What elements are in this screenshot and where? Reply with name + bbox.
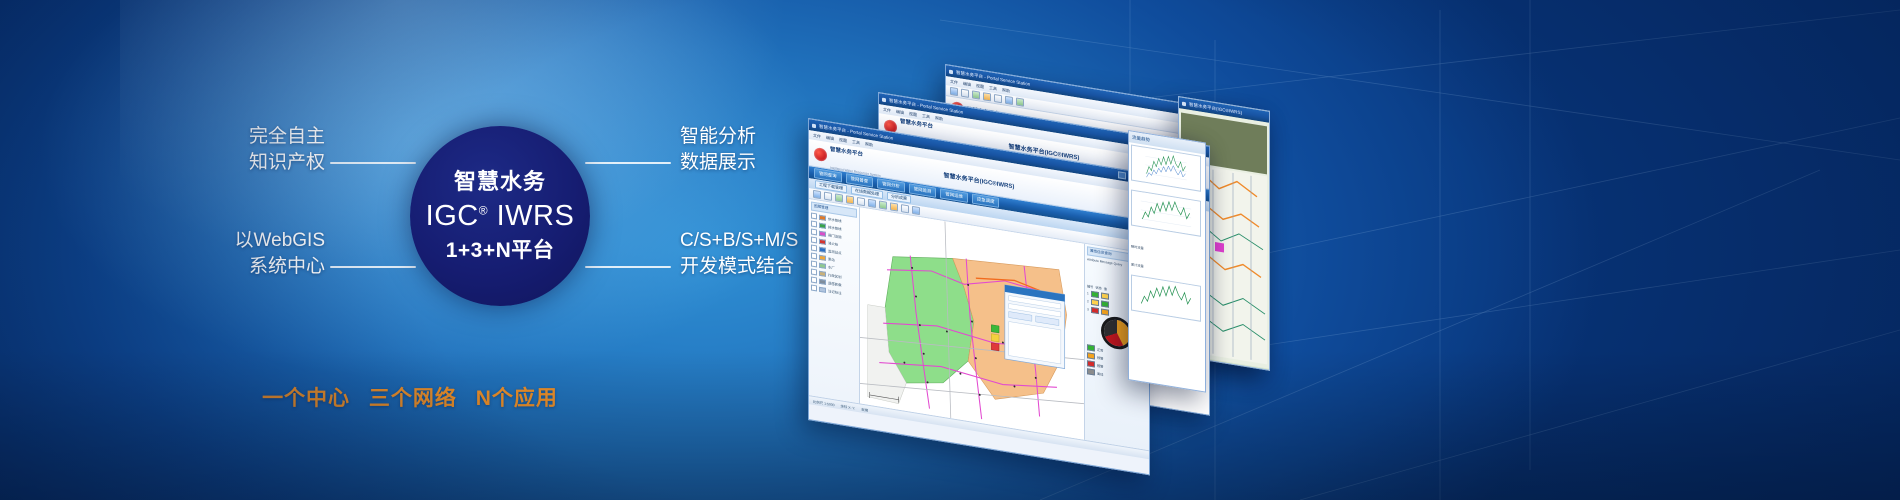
legend-swatch: [1087, 352, 1095, 359]
menu-item-edit[interactable]: 编辑: [963, 80, 971, 87]
zoom-out-icon[interactable]: [983, 92, 991, 101]
status-ready: 就绪: [861, 406, 868, 412]
layer-panel[interactable]: 图层管理 供水管线 排水管线 阀门设施 消火栓 监测站点 泵站 水厂 行政区划 …: [809, 199, 860, 403]
software-screenshot-stack: 智慧水务平台(IGC®IWRS): [780, 0, 1900, 500]
feature-label-bottom-left: 以WebGIS 系统中心: [175, 228, 325, 280]
table-header-1: 状态: [1095, 285, 1101, 291]
save-icon[interactable]: [824, 192, 832, 201]
app-icon: [1182, 101, 1186, 106]
identify-icon[interactable]: [890, 202, 898, 211]
window-front[interactable]: 智慧水务平台 - Portal Service Station 文件 编辑 视图…: [808, 118, 1150, 475]
checkbox-icon[interactable]: [811, 268, 817, 275]
table-header-0: 编号: [1087, 283, 1093, 289]
layer-swatch: [819, 278, 826, 284]
legend-swatch: [1087, 368, 1095, 375]
table-header-2: 值: [1104, 286, 1107, 292]
menu-item-file[interactable]: 文件: [813, 132, 821, 139]
checkbox-icon[interactable]: [811, 252, 817, 259]
open-icon[interactable]: [813, 190, 821, 199]
layer-item-label: 注记标注: [828, 288, 842, 295]
menu-item-view[interactable]: 视图: [976, 83, 984, 90]
connector-top-left: [330, 162, 416, 164]
infographic: 完全自主 知识产权 智能分析 数据展示 以WebGIS 系统中心 C/S+B/S…: [0, 0, 820, 500]
layer-item-label: 水厂: [828, 264, 835, 270]
open-icon[interactable]: [950, 87, 958, 96]
layer-item-label: 监测站点: [828, 248, 842, 255]
app-icon: [812, 123, 816, 128]
layer-item-label: 供水管线: [828, 216, 842, 223]
status-scale: 比例尺 1:5000: [813, 398, 834, 406]
feature-label-top-left: 完全自主 知识产权: [190, 124, 325, 176]
checkbox-icon[interactable]: [811, 212, 817, 219]
checkbox-icon[interactable]: [811, 220, 817, 227]
tagline-part-3: N个应用: [476, 387, 558, 410]
feature-label-top-left-line1: 完全自主: [249, 126, 325, 147]
registered-trademark-icon: ®: [479, 203, 488, 217]
badge-platform: 1+3+N平台: [446, 240, 555, 261]
map-popup-window: [1005, 285, 1065, 369]
status-badge: [1091, 307, 1099, 314]
chart-flow-trend-1: [1131, 144, 1201, 191]
measure-icon[interactable]: [879, 200, 887, 209]
layer-swatch: [819, 238, 826, 244]
app-icon: [882, 97, 886, 102]
minimize-icon: [1118, 171, 1126, 179]
brand-name: 智慧水务平台: [900, 119, 933, 130]
layer-item-label: 泵站: [828, 256, 835, 262]
menu-item-file[interactable]: 文件: [883, 106, 891, 113]
chart-flow-trend-3: [1131, 274, 1201, 321]
select-icon[interactable]: [1005, 96, 1013, 105]
legend-swatch: [1087, 344, 1095, 351]
connector-top-right: [585, 162, 671, 164]
save-icon[interactable]: [961, 89, 969, 98]
row-id: 1: [1087, 291, 1089, 295]
status-badge: [1091, 291, 1099, 298]
window-chart-panel[interactable]: 流量趋势 瞬时流量 累计流量: [1128, 130, 1206, 393]
chart-flow-trend-2: [1131, 189, 1201, 236]
layer-item-label: 消火栓: [828, 240, 838, 247]
banner-root: 完全自主 知识产权 智能分析 数据展示 以WebGIS 系统中心 C/S+B/S…: [0, 0, 1900, 500]
badge-product-igc: IGC: [426, 200, 479, 232]
chart-series-name-2: 累计流量: [1131, 262, 1144, 268]
checkbox-icon[interactable]: [811, 276, 817, 283]
layer-swatch: [819, 254, 826, 260]
layer-swatch: [819, 214, 826, 220]
checkbox-icon[interactable]: [811, 260, 817, 267]
layer-item-label: 排水管线: [828, 224, 842, 231]
legend-label: 预警: [1097, 354, 1103, 360]
layer-icon[interactable]: [912, 206, 920, 215]
company-logo-icon: [814, 146, 827, 161]
layer-item-label: 行政区划: [828, 272, 842, 279]
menu-item-file[interactable]: 文件: [950, 78, 958, 85]
pan-icon[interactable]: [994, 94, 1002, 103]
checkbox-icon[interactable]: [811, 284, 817, 291]
layer-swatch: [819, 230, 826, 236]
row-id: 3: [1087, 307, 1089, 311]
layer-item-label: 阀门设施: [828, 232, 842, 239]
status-coords: 坐标 X: Y:: [840, 403, 855, 410]
legend-swatch: [1087, 360, 1095, 367]
map-vector-layers[interactable]: [860, 207, 1084, 439]
legend-label: 报警: [1097, 362, 1103, 368]
badge-title: 智慧水务: [454, 171, 546, 193]
connector-bottom-right: [585, 266, 671, 268]
layer-item-label: 遥感影像: [828, 280, 842, 287]
select-icon[interactable]: [868, 199, 876, 208]
badge-product-iwrs: IWRS: [497, 200, 575, 232]
app-icon: [949, 69, 953, 74]
feature-label-top-right-line1: 智能分析: [680, 126, 756, 147]
feature-label-top-left-line2: 知识产权: [190, 150, 325, 176]
zoom-in-icon[interactable]: [972, 90, 980, 99]
feature-label-bottom-left-line1: 以WebGIS: [235, 230, 325, 251]
tagline-part-1: 一个中心: [262, 387, 350, 410]
connector-bottom-left: [330, 266, 416, 268]
menu-item-help[interactable]: 帮助: [1002, 87, 1010, 94]
layer-swatch: [819, 286, 826, 292]
pan-icon[interactable]: [857, 197, 865, 206]
row-id: 2: [1087, 299, 1089, 303]
chart-series-name-1: 瞬时流量: [1131, 244, 1144, 250]
window-front-app-title: 智慧水务平台(IGC®IWRS): [944, 169, 1015, 189]
tagline-part-2: 三个网络: [369, 387, 457, 410]
zoom-out-icon[interactable]: [846, 195, 854, 204]
legend-label: 离线: [1097, 370, 1103, 376]
layer-swatch: [819, 262, 826, 268]
legend-label: 正常: [1097, 346, 1103, 352]
status-badge: [1091, 299, 1099, 306]
map-canvas[interactable]: [860, 207, 1084, 439]
value-badge: [1101, 292, 1109, 299]
value-badge: [1101, 300, 1109, 307]
measure-icon[interactable]: [1016, 97, 1024, 106]
layer-swatch: [819, 270, 826, 276]
layer-swatch: [819, 222, 826, 228]
layer-swatch: [819, 246, 826, 252]
brand-name: 智慧水务平台: [830, 147, 863, 158]
feature-label-bottom-left-line2: 系统中心: [175, 254, 325, 280]
checkbox-icon[interactable]: [811, 228, 817, 235]
center-ellipse-badge: 智慧水务 IGC® IWRS 1+3+N平台: [410, 126, 590, 306]
zoom-in-icon[interactable]: [835, 193, 843, 202]
badge-product: IGC® IWRS: [426, 202, 575, 231]
checkbox-icon[interactable]: [811, 236, 817, 243]
window-chart-title: 流量趋势: [1132, 134, 1150, 143]
menu-item-tools[interactable]: 工具: [989, 85, 997, 92]
checkbox-icon[interactable]: [811, 244, 817, 251]
tagline: 一个中心 三个网络 N个应用: [0, 382, 820, 412]
value-badge: [1101, 308, 1109, 315]
print-icon[interactable]: [901, 204, 909, 213]
pie-chart-status: [1104, 318, 1130, 348]
